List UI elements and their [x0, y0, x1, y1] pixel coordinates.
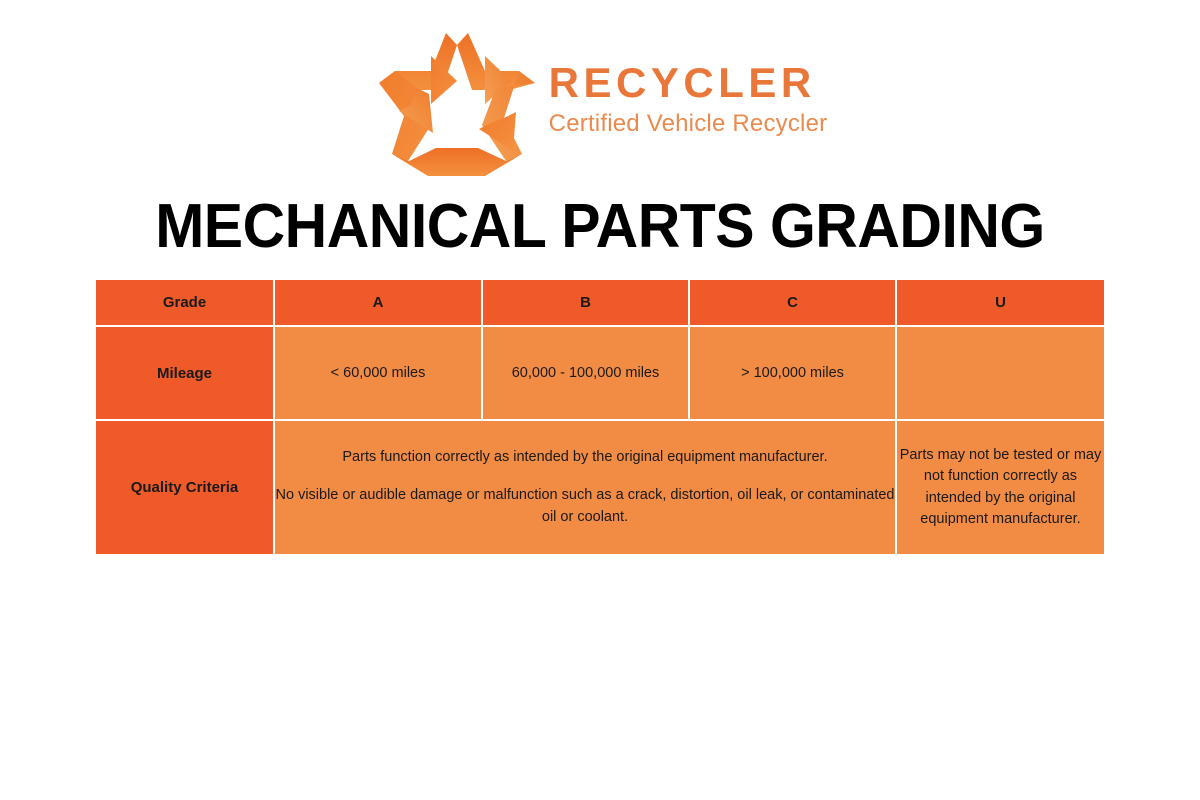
- brand-tagline: Certified Vehicle Recycler: [549, 110, 828, 139]
- recycling-star-icon: [373, 28, 541, 180]
- brand-name: RECYCLER: [549, 62, 816, 105]
- mechanical-parts-grading-table: Grade A B C U Mileage < 60,000 miles 60,…: [96, 280, 1104, 554]
- quality-criteria-abc-line1: Parts function correctly as intended by …: [275, 447, 895, 468]
- header-cell-c: C: [690, 280, 897, 327]
- table-row-mileage: Mileage < 60,000 miles 60,000 - 100,000 …: [96, 327, 1104, 421]
- header-cell-grade: Grade: [96, 280, 275, 327]
- mileage-grade-c: > 100,000 miles: [690, 327, 897, 421]
- row-label-mileage: Mileage: [96, 327, 275, 421]
- page-title: MECHANICAL PARTS GRADING: [30, 193, 1170, 261]
- row-label-quality-criteria: Quality Criteria: [96, 421, 275, 554]
- header-cell-u: U: [897, 280, 1104, 327]
- quality-criteria-u: Parts may not be tested or may not funct…: [897, 421, 1104, 554]
- table-header-row: Grade A B C U: [96, 280, 1104, 327]
- quality-criteria-abc-line2: No visible or audible damage or malfunct…: [275, 485, 895, 527]
- table-row-quality-criteria: Quality Criteria Parts function correctl…: [96, 421, 1104, 554]
- mileage-grade-u: [897, 327, 1104, 421]
- header-cell-b: B: [483, 280, 690, 327]
- logo-inner: RECYCLER Certified Vehicle Recycler: [373, 28, 828, 180]
- quality-criteria-abc: Parts function correctly as intended by …: [275, 421, 897, 554]
- mileage-grade-b: 60,000 - 100,000 miles: [483, 327, 690, 421]
- header-cell-a: A: [275, 280, 483, 327]
- mileage-grade-a: < 60,000 miles: [275, 327, 483, 421]
- grading-poster: RECYCLER Certified Vehicle Recycler MECH…: [0, 0, 1200, 800]
- brand-logo: RECYCLER Certified Vehicle Recycler: [0, 24, 1200, 184]
- logo-wordmark: RECYCLER Certified Vehicle Recycler: [549, 62, 828, 147]
